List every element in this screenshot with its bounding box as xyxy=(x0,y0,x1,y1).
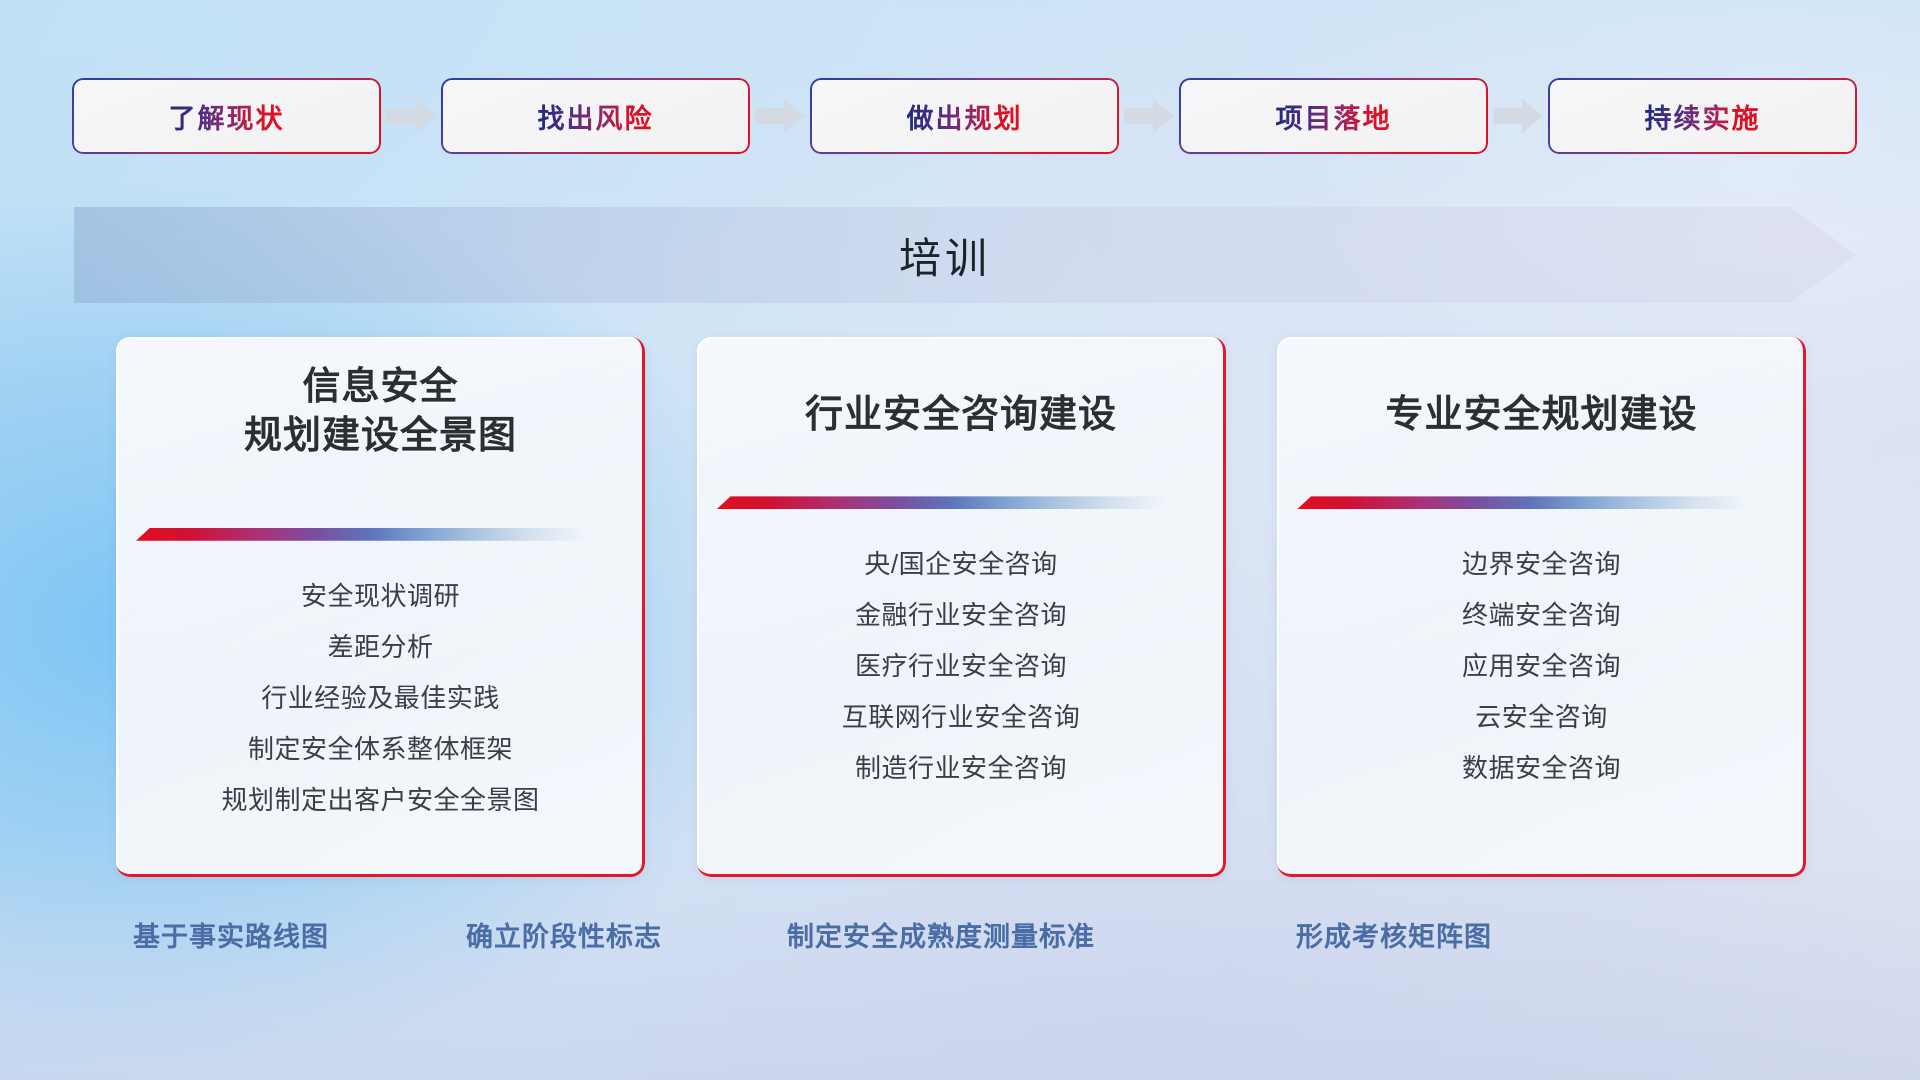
card-professional-security-planning[interactable]: 专业安全规划建设 边界安全咨询 终端安全咨询 应用安全咨询 云安全咨询 数据安全… xyxy=(1277,337,1806,877)
card-title-1: 信息安全 规划建设全景图 xyxy=(116,337,645,462)
card-information-security-panorama[interactable]: 信息安全 规划建设全景图 安全现状调研 差距分析 行业经验及最佳实践 制定安全体… xyxy=(116,337,645,877)
list-item: 制造行业安全咨询 xyxy=(721,755,1202,781)
step-box-3[interactable]: 做出规划 xyxy=(812,80,1117,152)
card-accent-bar-1 xyxy=(136,528,587,541)
list-item: 差距分析 xyxy=(140,634,621,685)
training-banner: 培训 xyxy=(74,207,1856,303)
list-item: 央/国企安全咨询 xyxy=(721,551,1202,602)
list-item: 规划制定出客户安全全景图 xyxy=(140,787,621,813)
card-list-2: 央/国企安全咨询 金融行业安全咨询 医疗行业安全咨询 互联网行业安全咨询 制造行… xyxy=(697,509,1226,781)
footnote-label-3: 制定安全成熟度测量标准 xyxy=(787,915,1095,954)
list-item: 行业经验及最佳实践 xyxy=(140,685,621,736)
list-item: 安全现状调研 xyxy=(140,583,621,634)
flow-arrow-icon-1 xyxy=(379,80,443,152)
list-item: 边界安全咨询 xyxy=(1301,551,1782,602)
step-box-2[interactable]: 找出风险 xyxy=(443,80,748,152)
step-label-1: 了解现状 xyxy=(169,97,285,136)
step-label-4: 项目落地 xyxy=(1276,97,1392,136)
card-title-3: 专业安全规划建设 xyxy=(1277,337,1806,440)
list-item: 互联网行业安全咨询 xyxy=(721,704,1202,755)
flow-arrow-icon-2 xyxy=(748,80,812,152)
card-accent-bar-2 xyxy=(717,496,1168,509)
list-item: 医疗行业安全咨询 xyxy=(721,653,1202,704)
footnote-label-1: 基于事实路线图 xyxy=(133,915,329,954)
card-list-1: 安全现状调研 差距分析 行业经验及最佳实践 制定安全体系整体框架 规划制定出客户… xyxy=(116,541,645,813)
card-list-3: 边界安全咨询 终端安全咨询 应用安全咨询 云安全咨询 数据安全咨询 xyxy=(1277,509,1806,781)
list-item: 终端安全咨询 xyxy=(1301,602,1782,653)
step-label-5: 持续实施 xyxy=(1645,97,1761,136)
step-box-1[interactable]: 了解现状 xyxy=(74,80,379,152)
step-box-4[interactable]: 项目落地 xyxy=(1181,80,1486,152)
footnote-label-2: 确立阶段性标志 xyxy=(466,915,662,954)
process-flow-steps: 了解现状 找出风险 做出规划 项目落地 xyxy=(74,80,1856,152)
list-item: 金融行业安全咨询 xyxy=(721,602,1202,653)
list-item: 制定安全体系整体框架 xyxy=(140,736,621,787)
list-item: 云安全咨询 xyxy=(1301,704,1782,755)
step-label-2: 找出风险 xyxy=(538,97,654,136)
footnote-row: 基于事实路线图 确立阶段性标志 制定安全成熟度测量标准 形成考核矩阵图 xyxy=(0,915,1920,959)
step-box-5[interactable]: 持续实施 xyxy=(1550,80,1855,152)
banner-title: 培训 xyxy=(74,207,1856,303)
list-item: 应用安全咨询 xyxy=(1301,653,1782,704)
flow-arrow-icon-4 xyxy=(1486,80,1550,152)
card-row: 信息安全 规划建设全景图 安全现状调研 差距分析 行业经验及最佳实践 制定安全体… xyxy=(116,337,1806,877)
slide-canvas: 了解现状 找出风险 做出规划 项目落地 xyxy=(0,0,1920,1080)
footnote-label-4: 形成考核矩阵图 xyxy=(1296,915,1492,954)
flow-arrow-icon-3 xyxy=(1117,80,1181,152)
card-title-2: 行业安全咨询建设 xyxy=(697,337,1226,440)
list-item: 数据安全咨询 xyxy=(1301,755,1782,781)
card-industry-security-consulting[interactable]: 行业安全咨询建设 央/国企安全咨询 金融行业安全咨询 医疗行业安全咨询 互联网行… xyxy=(697,337,1226,877)
step-label-3: 做出规划 xyxy=(907,97,1023,136)
card-accent-bar-3 xyxy=(1297,496,1748,509)
